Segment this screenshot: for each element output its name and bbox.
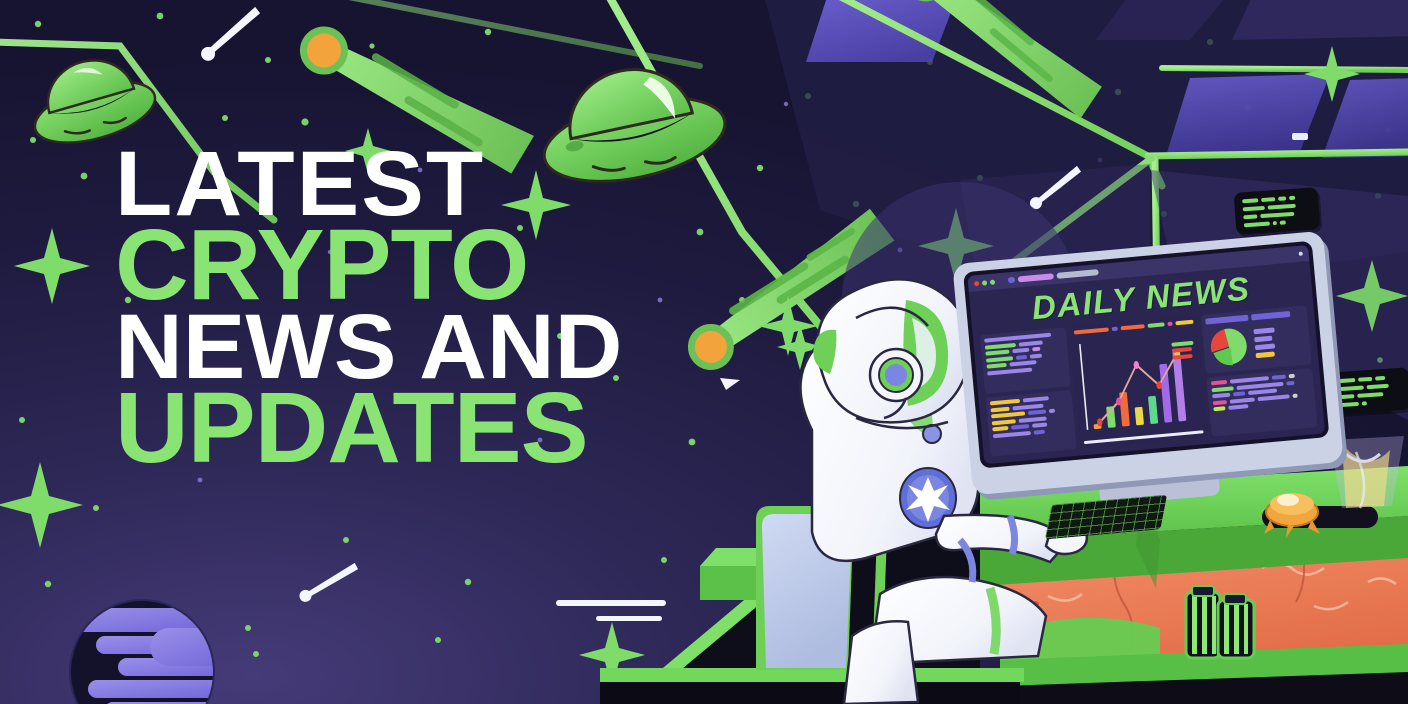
data-bar [986,363,1007,369]
data-bar [1011,424,1030,430]
aux-row [1244,219,1312,228]
data-bar [1286,380,1294,385]
window-maximize-dot[interactable] [990,279,995,284]
data-bar [992,419,1016,425]
y-axis [1080,344,1088,430]
data-bar [1228,404,1248,410]
data-bar [1028,409,1046,415]
data-bar [990,406,1009,412]
aux-bar [1268,204,1296,210]
aux-bar [1358,377,1372,382]
aux-bar [1357,392,1383,398]
dashboard-left-column [980,327,1077,456]
data-bar [1211,380,1227,385]
aux-bar [1362,401,1367,405]
aux-bar [1243,214,1257,219]
data-bar [1214,406,1226,411]
data-bar [1010,360,1037,366]
aux-row [1339,399,1403,407]
data-bar [1167,322,1172,326]
pie-chart-block [1206,318,1307,369]
data-bar [1112,327,1117,331]
data-bar [1255,343,1275,350]
data-bar [993,430,1031,437]
browser-menu-dot[interactable] [1299,252,1303,256]
dashboard-right-column [1201,305,1317,436]
headline-line-4: UPDATES [115,383,622,473]
aux-bar [1243,206,1265,212]
aux-bar [1244,222,1270,228]
chart-panel[interactable] [1070,315,1209,448]
panel-bottom-right[interactable] [1207,368,1318,436]
data-bar [1120,324,1145,330]
data-bar [1230,397,1256,403]
monitor: DAILY NEWS [952,231,1343,496]
aux-row [1337,375,1401,383]
panel-top-left[interactable] [980,327,1071,394]
crypto-news-banner: LATEST CRYPTO NEWS AND UPDATES [0,0,1408,704]
aux-screen-top[interactable] [1234,187,1321,235]
aux-bar [1261,197,1275,202]
data-bar [1256,352,1275,359]
data-bar [1288,374,1294,379]
data-bar [1248,388,1278,395]
data-bar [1033,422,1047,427]
tab-pill-1[interactable] [1008,277,1016,284]
aux-row [1242,195,1310,204]
data-bar [992,426,1008,431]
data-bar [1213,400,1227,405]
data-bar [1292,393,1297,397]
data-bar [1012,403,1044,410]
chart-legend [1172,340,1195,359]
data-bar [987,367,1033,375]
window-minimize-dot[interactable] [982,280,987,285]
aux-bar [1339,402,1359,407]
data-bar [1233,391,1245,396]
chart-plot-area [1075,326,1204,436]
aux-bar [1278,196,1286,201]
aux-bar [1242,198,1258,203]
data-bar [1048,409,1055,414]
aux-bar [1273,221,1277,225]
bar-4 [1135,406,1144,425]
aux-bar [1289,196,1295,200]
green-canisters [1186,586,1254,658]
aux-bar [1337,378,1355,383]
aux-bar [1375,376,1385,381]
data-bar [1012,348,1030,354]
headline-block: LATEST CRYPTO NEWS AND UPDATES [115,143,612,473]
data-bar [986,356,1013,362]
data-bar [1019,340,1043,346]
aux-screen-bottom[interactable] [1329,367,1408,414]
panel-top-right[interactable] [1201,305,1312,373]
aux-bar [1260,212,1294,218]
monitor-inner-frame: DAILY NEWS [963,241,1329,469]
data-bar [1258,394,1289,401]
bar-5 [1148,395,1158,423]
pie-chart [1206,323,1252,369]
data-bar [1029,353,1042,358]
data-bar [1032,347,1040,352]
aux-row [1243,203,1311,212]
data-bar [985,350,1009,356]
aux-bar [1280,220,1286,224]
data-bar [1015,354,1026,359]
data-bar [1175,320,1194,326]
data-bar [1254,336,1272,343]
data-bar [1148,322,1165,327]
data-bar [990,399,1020,406]
aux-row [1243,211,1311,220]
aux-bar [1338,394,1354,399]
aux-bar [1338,385,1364,391]
data-bar [1033,429,1044,434]
window-close-dot[interactable] [974,280,979,285]
pie-legend [1254,325,1307,358]
aux-bar [1367,384,1389,390]
aux-row [1338,391,1402,399]
data-bar [1212,386,1234,392]
aux-row [1338,383,1402,391]
data-bar [1022,396,1049,402]
data-bar [1172,347,1192,353]
bar-7 [1173,351,1187,421]
data-bar [1254,327,1275,334]
tab-pill-3[interactable] [1056,269,1098,279]
data-bar [985,342,1017,349]
data-bar [1172,340,1194,346]
dashboard-center-column [1070,315,1209,448]
data-bar [1212,393,1230,399]
data-bar [1272,375,1286,380]
tab-pill-2[interactable] [1018,273,1054,282]
panel-bottom-left[interactable] [985,390,1076,457]
monitor-screen: DAILY NEWS [967,245,1325,464]
data-bar [1018,416,1046,423]
